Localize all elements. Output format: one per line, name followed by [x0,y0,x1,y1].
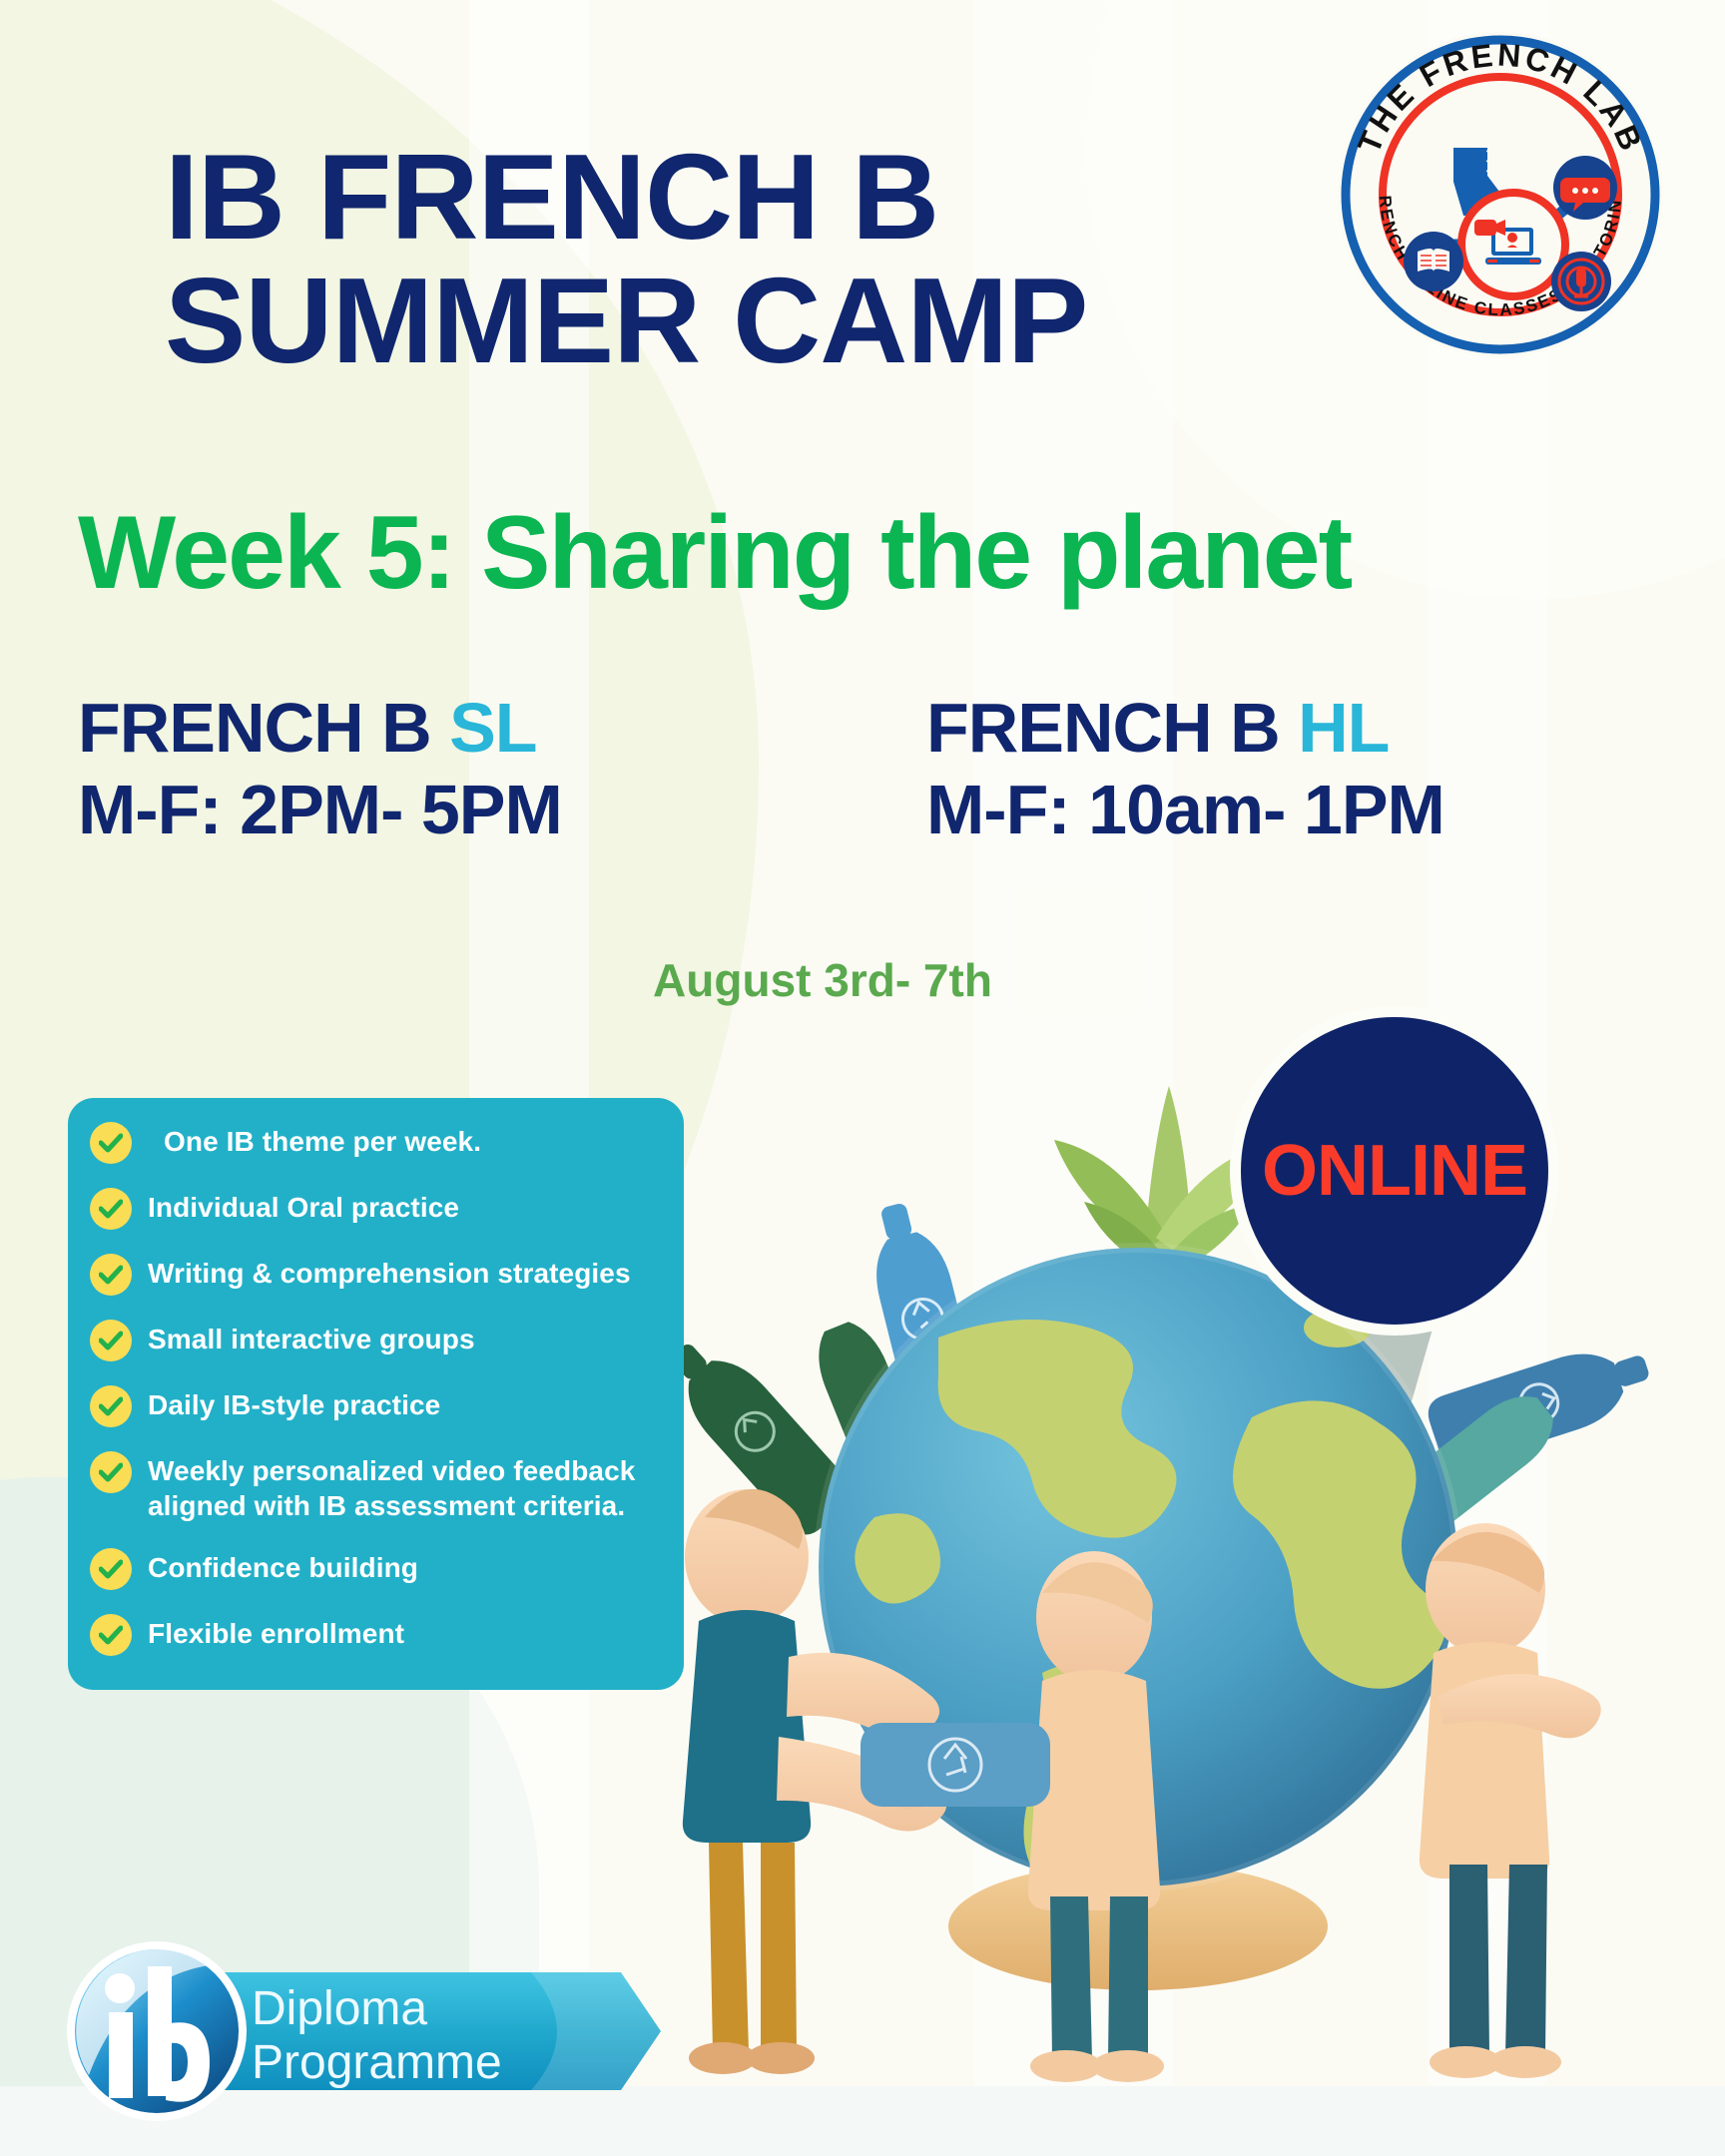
title-line-2: SUMMER CAMP [165,259,1283,382]
check-circle-icon [90,1614,132,1656]
poster-canvas: THE FRENCH LAB FRENCH ONLINE CLASSES & T… [0,0,1725,2156]
check-circle-icon [90,1188,132,1230]
person-left-leg-a [709,1843,749,2052]
schedule-column-sl: FRENCH B SL M-F: 2PM- 5PM [78,689,797,850]
check-circle-icon [90,1548,132,1590]
check-circle-icon [90,1385,132,1427]
list-item: Confidence building [90,1546,664,1590]
list-item-label: One IB theme per week. [148,1120,481,1159]
person-right-leg-a [1449,1865,1489,2056]
list-item: Weekly personalized video feedback align… [90,1449,664,1524]
person-left-shirt [683,1610,811,1843]
camp-dates: August 3rd- 7th [653,953,992,1007]
check-circle-icon [90,1254,132,1296]
level-badge-hl: HL [1298,689,1389,767]
speech-bubble-icon [1553,156,1617,220]
ib-logo-line2: Programme [252,2036,502,2089]
list-item-label: Small interactive groups [148,1318,475,1356]
list-item: Writing & comprehension strategies [90,1252,664,1296]
course-label-hl: FRENCH B [926,689,1280,767]
features-card: One IB theme per week. Individual Oral p… [68,1098,684,1690]
person-right-leg-b [1505,1865,1547,2056]
list-item: Flexible enrollment [90,1612,664,1656]
list-item-label: Daily IB-style practice [148,1383,440,1422]
schedule-level-sl: FRENCH B SL [78,689,797,767]
person-left-leg-b [761,1843,797,2052]
list-item-label: Confidence building [148,1546,418,1585]
schedule-level-hl: FRENCH B HL [926,689,1645,767]
camp-dates-row: August 3rd- 7th [0,953,1725,1007]
list-item: Individual Oral practice [90,1186,664,1230]
title-line-1: IB FRENCH B [165,135,1283,259]
ib-logo-line1: Diploma [252,1982,427,2035]
list-item-label: Flexible enrollment [148,1612,404,1651]
check-circle-icon [90,1122,132,1164]
check-circle-icon [90,1451,132,1493]
schedule-time-sl: M-F: 2PM- 5PM [78,771,797,850]
list-item: Small interactive groups [90,1318,664,1361]
schedule-section: FRENCH B SL M-F: 2PM- 5PM FRENCH B HL M-… [78,689,1715,850]
list-item: One IB theme per week. [90,1120,664,1164]
globe-illustration [639,998,1725,2156]
open-book-icon [1404,232,1463,291]
ib-diploma-programme-logo: Diploma Programme [62,1936,671,2126]
list-item-label: Individual Oral practice [148,1186,459,1225]
schedule-time-hl: M-F: 10am- 1PM [926,771,1645,850]
list-item-label: Weekly personalized video feedback align… [148,1449,664,1524]
list-item: Daily IB-style practice [90,1383,664,1427]
level-badge-sl: SL [449,689,536,767]
online-badge-label: ONLINE [1262,1130,1527,1212]
list-item-label: Writing & comprehension strategies [148,1252,631,1291]
recycled-panel [861,1723,1050,1807]
online-badge: ONLINE [1230,1006,1559,1336]
poster-subtitle: Week 5: Sharing the planet [78,499,1695,608]
person-center-leg-b [1108,1896,1148,2060]
french-lab-logo: THE FRENCH LAB FRENCH ONLINE CLASSES & T… [1336,30,1665,359]
check-circle-icon [90,1320,132,1361]
course-label-sl: FRENCH B [78,689,431,767]
microphone-icon [1551,252,1611,311]
schedule-column-hl: FRENCH B HL M-F: 10am- 1PM [926,689,1645,850]
person-right [1420,1523,1601,2078]
person-center-leg-a [1050,1896,1092,2060]
poster-title: IB FRENCH B SUMMER CAMP [165,135,1283,383]
